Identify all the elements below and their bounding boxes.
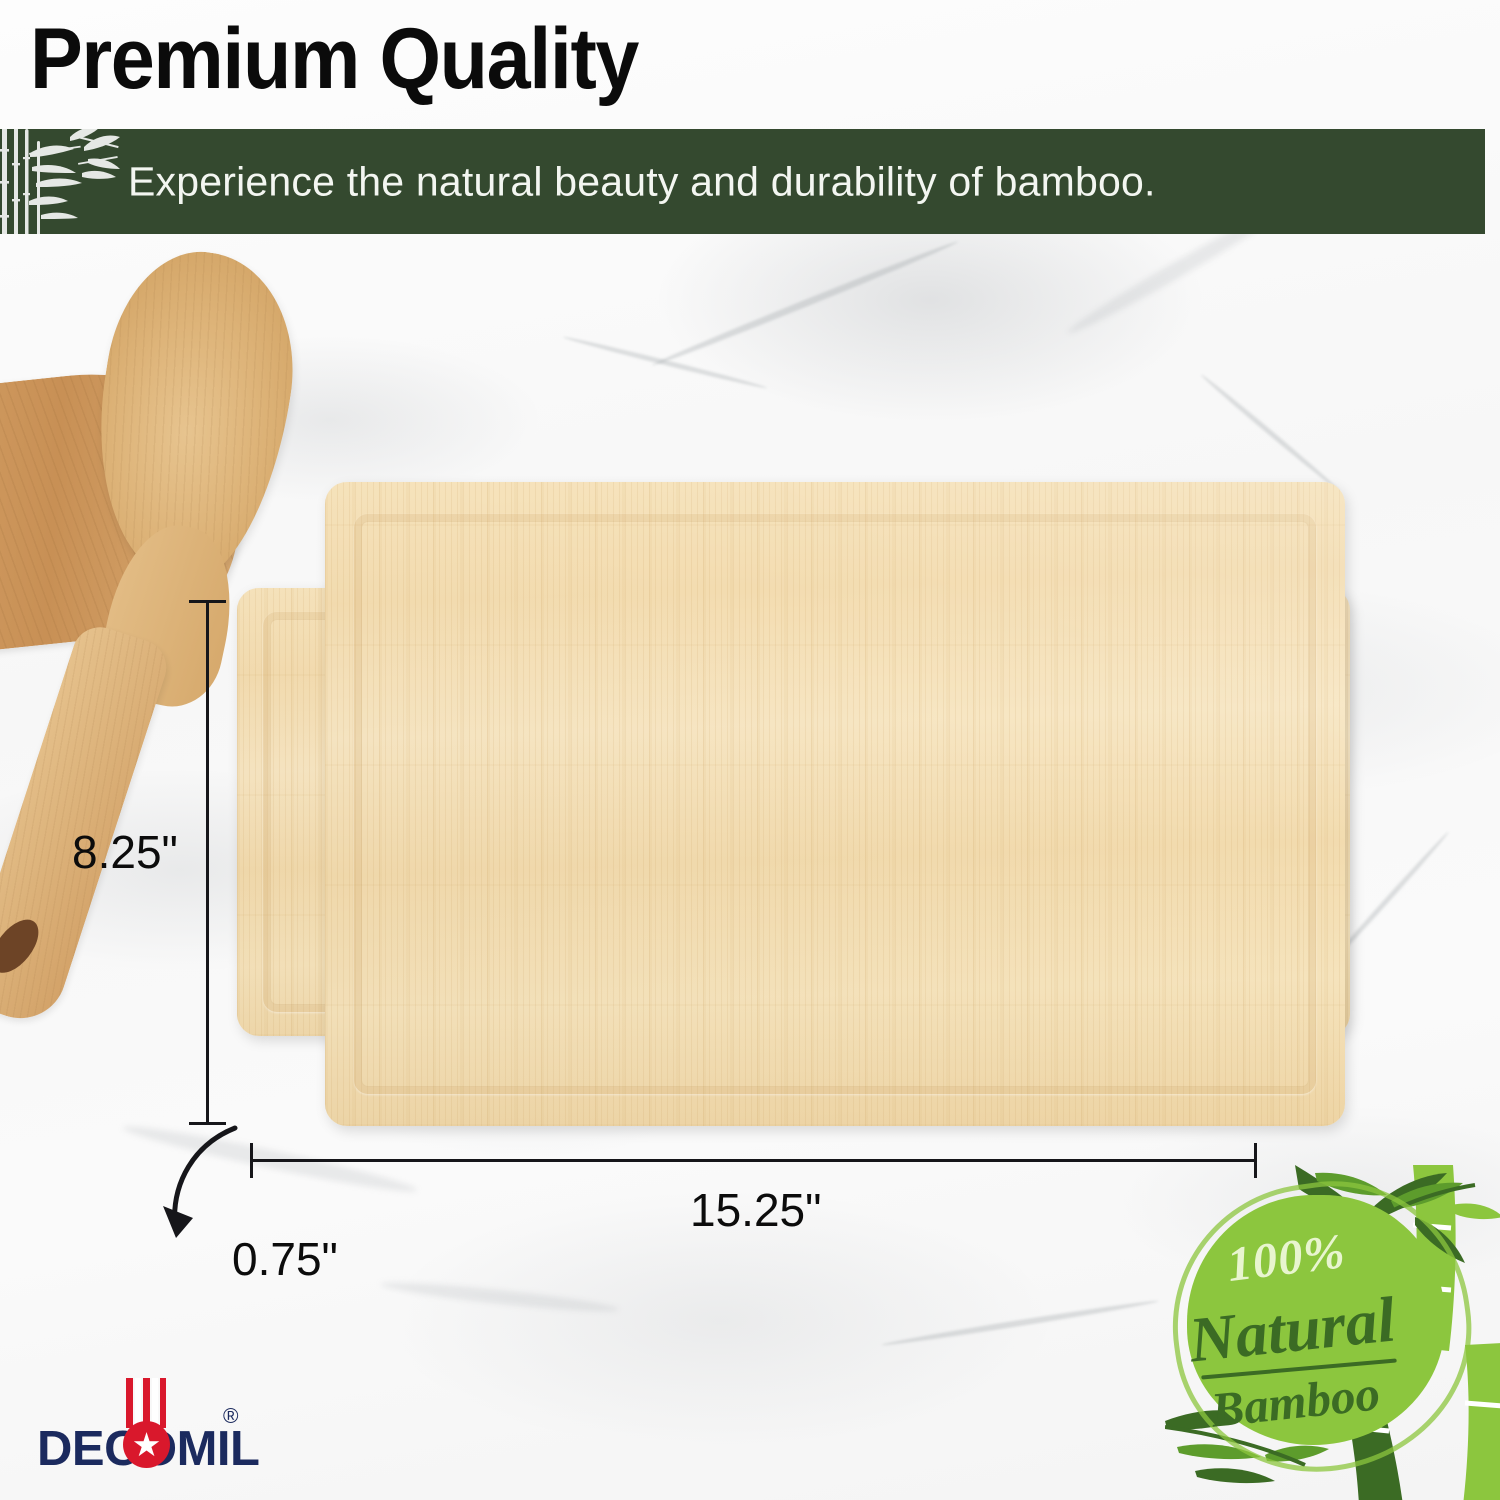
front-cutting-board	[325, 482, 1345, 1126]
medal-circle-icon: ★	[123, 1421, 170, 1468]
page-title: Premium Quality	[30, 14, 638, 105]
tagline-banner: Experience the natural beauty and durabi…	[0, 129, 1485, 234]
height-dimension-line	[206, 600, 209, 1125]
juice-groove	[354, 514, 1316, 1094]
spoon-hanging-hole	[0, 911, 48, 981]
star-icon: ★	[132, 1428, 162, 1461]
natural-bamboo-badge: 100% Natural Bamboo	[1165, 1165, 1500, 1500]
tagline-text: Experience the natural beauty and durabi…	[128, 158, 1156, 205]
width-dimension-line	[250, 1159, 1257, 1162]
registered-trademark-symbol: ®	[223, 1405, 238, 1429]
infographic-canvas: Premium Quality	[0, 0, 1500, 1500]
height-dimension-cap-top	[189, 600, 226, 603]
width-label: 15.25"	[690, 1183, 821, 1237]
thickness-label: 0.75"	[232, 1232, 338, 1286]
height-label: 8.25"	[72, 825, 178, 879]
decomil-logo: DECOMIL ★ ®	[37, 1375, 267, 1485]
